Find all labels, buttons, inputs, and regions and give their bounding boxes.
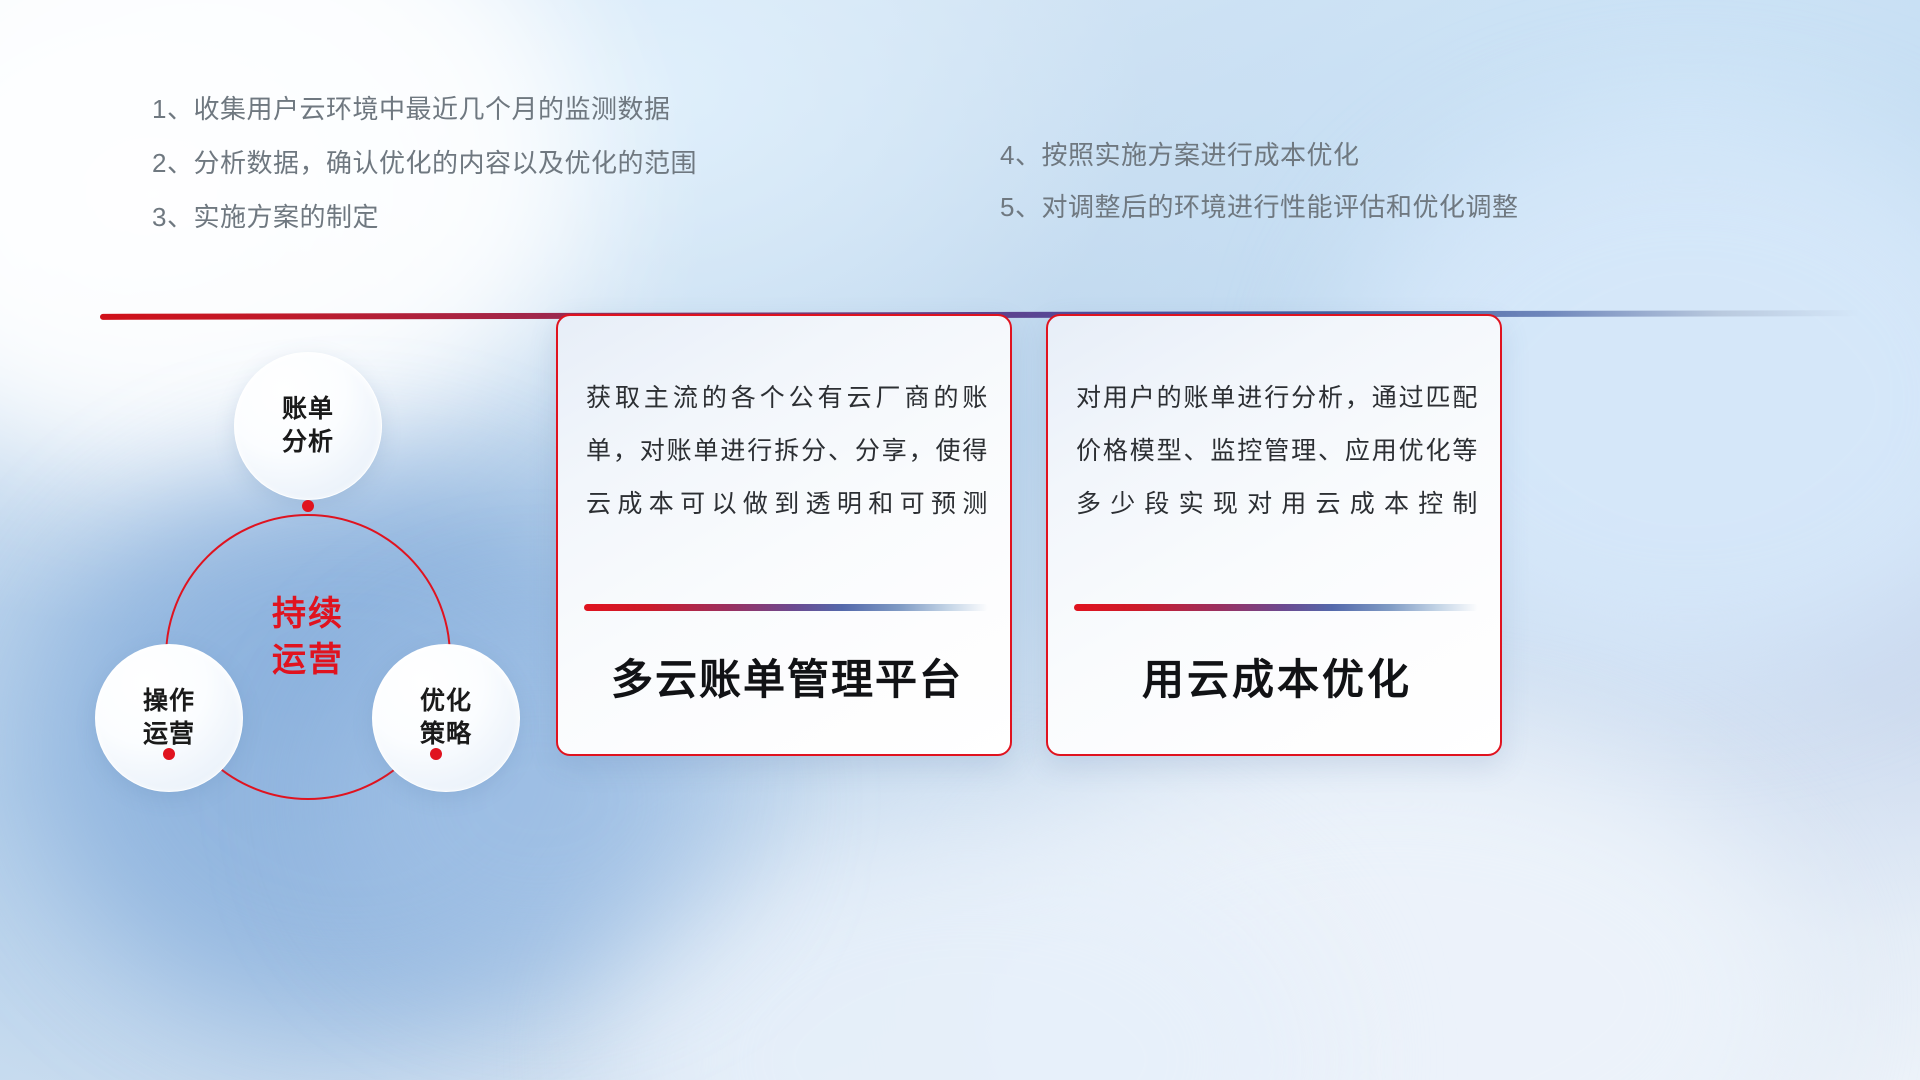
card-cloud-cost-optimization[interactable]: 对用户的账单进行分析，通过匹配价格模型、监控管理、应用优化等多少段实现对用云成本… xyxy=(1046,314,1502,756)
step-item-3: 3、实施方案的制定 xyxy=(152,204,697,230)
card-body-text: 对用户的账单进行分析，通过匹配价格模型、监控管理、应用优化等多少段实现对用云成本… xyxy=(1076,372,1478,531)
bubble-label-line-2: 策略 xyxy=(420,718,472,751)
step-item-2: 2、分析数据，确认优化的内容以及优化的范围 xyxy=(152,150,697,176)
steps-list: 1、收集用户云环境中最近几个月的监测数据 2、分析数据，确认优化的内容以及优化的… xyxy=(0,96,1920,246)
card-multi-cloud-bill-platform[interactable]: 获取主流的各个公有云厂商的账单，对账单进行拆分、分享，使得云成本可以做到透明和可… xyxy=(556,314,1012,756)
steps-column-right: 4、按照实施方案进行成本优化 5、对调整后的环境进行性能评估和优化调整 xyxy=(1000,142,1518,246)
venn-diagram: 持续 运营 账单 分析 操作 运营 优化 策略 xyxy=(90,352,560,832)
node-dot-top xyxy=(302,500,314,512)
bubble-label-line-1: 优化 xyxy=(420,685,472,718)
card-divider xyxy=(584,604,988,611)
bubble-label-line-2: 分析 xyxy=(282,426,334,459)
card-divider xyxy=(1074,604,1478,611)
bubble-optimize-strategy-label: 优化 策略 xyxy=(420,685,472,751)
bubble-bill-analysis-label: 账单 分析 xyxy=(282,393,334,459)
card-body-text: 获取主流的各个公有云厂商的账单，对账单进行拆分、分享，使得云成本可以做到透明和可… xyxy=(586,372,988,531)
slide-canvas: 1、收集用户云环境中最近几个月的监测数据 2、分析数据，确认优化的内容以及优化的… xyxy=(0,0,1920,1080)
background-blob xyxy=(620,820,1320,1080)
card-title: 多云账单管理平台 xyxy=(584,646,990,707)
steps-column-left: 1、收集用户云环境中最近几个月的监测数据 2、分析数据，确认优化的内容以及优化的… xyxy=(152,96,697,258)
step-item-5: 5、对调整后的环境进行性能评估和优化调整 xyxy=(1000,194,1518,220)
step-item-4: 4、按照实施方案进行成本优化 xyxy=(1000,142,1518,168)
background-blob xyxy=(980,740,1800,1080)
bubble-optimize-strategy[interactable]: 优化 策略 xyxy=(372,644,520,792)
bubble-ops-operation-label: 操作 运营 xyxy=(143,685,195,751)
center-label-line-1: 持续 xyxy=(165,592,451,638)
bubble-ops-operation[interactable]: 操作 运营 xyxy=(95,644,243,792)
bubble-label-line-1: 账单 xyxy=(282,393,334,426)
bubble-label-line-1: 操作 xyxy=(143,685,195,718)
step-item-1: 1、收集用户云环境中最近几个月的监测数据 xyxy=(152,96,697,122)
card-title: 用云成本优化 xyxy=(1074,646,1480,707)
node-dot-bottom-left xyxy=(163,748,175,760)
bubble-label-line-2: 运营 xyxy=(143,718,195,751)
bubble-bill-analysis[interactable]: 账单 分析 xyxy=(234,352,382,500)
node-dot-bottom-right xyxy=(430,748,442,760)
